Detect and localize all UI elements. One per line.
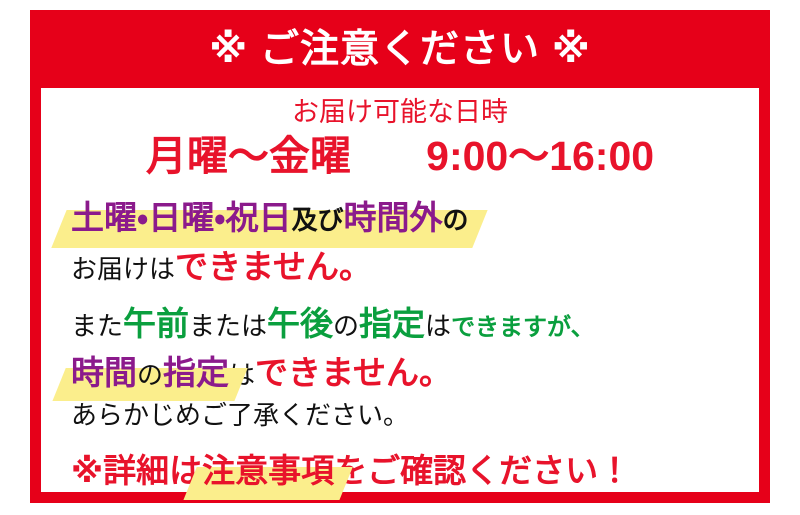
notice-header-title: ※ ご注意ください ※ bbox=[209, 30, 591, 69]
unavailable-particle-no: の bbox=[442, 205, 468, 235]
designation-block: また午前または午後の指定はできますが、 時間の指定はできません。 あらかじめご了… bbox=[71, 303, 741, 433]
designation-line-1: また午前または午後の指定はできますが、 bbox=[71, 303, 741, 346]
morning-text: 午前 bbox=[123, 305, 189, 342]
availability-time-range: 9:00〜16:00 bbox=[426, 133, 654, 179]
availability-label: お届け可能な日時 bbox=[59, 96, 741, 130]
acknowledge-text: あらかじめご了承ください。 bbox=[71, 400, 409, 430]
footer-note-line: ※詳細は注意事項をご確認ください！ bbox=[71, 450, 741, 493]
unavailable-block: 土曜・日曜・祝日及び時間外の お届けはできません。 bbox=[71, 197, 741, 289]
availability-end-time: 16:00 bbox=[549, 133, 654, 179]
availability-spacer bbox=[362, 133, 414, 179]
also-text: また bbox=[71, 311, 123, 341]
notice-body: お届け可能な日時 月曜〜金曜 9:00〜16:00 土曜・日曜・祝日及び時間外の… bbox=[41, 88, 759, 493]
unavailable-line-1: 土曜・日曜・祝日及び時間外の bbox=[71, 197, 741, 240]
unavailable-days-text: 土曜・日曜・祝日 bbox=[71, 199, 291, 236]
delivery-subject-text: お届けは bbox=[71, 254, 175, 284]
time-designation-text: 指定 bbox=[163, 354, 229, 391]
afternoon-text: 午後 bbox=[267, 305, 333, 342]
designation-line-2: 時間の指定はできません。 bbox=[71, 352, 741, 395]
or-text: または bbox=[189, 311, 267, 341]
designation-text: 指定 bbox=[359, 305, 425, 342]
highlight-marker-days: 土曜・日曜・祝日及び時間外の bbox=[71, 197, 468, 240]
designation-line-3: あらかじめご了承ください。 bbox=[71, 399, 741, 433]
notice-header-banner: ※ ご注意ください ※ bbox=[30, 10, 770, 88]
designation-particle-wa: は bbox=[425, 311, 451, 341]
time-word-text: 時間 bbox=[71, 354, 137, 391]
cannot-deliver-text: できません。 bbox=[175, 248, 372, 285]
highlight-marker-terms: 注意事項 bbox=[202, 450, 334, 493]
notice-card: ※ ご注意ください ※ お届け可能な日時 月曜〜金曜 9:00〜16:00 土曜… bbox=[30, 10, 770, 503]
unavailable-offhours-text: 時間外 bbox=[343, 199, 442, 236]
unavailable-line-2: お届けはできません。 bbox=[71, 246, 741, 289]
footer-note-block: ※詳細は注意事項をご確認ください！ bbox=[71, 450, 741, 493]
availability-start-time: 9:00 bbox=[426, 133, 508, 179]
time-particle-no: の bbox=[137, 360, 163, 390]
time-cannot-text: できません。 bbox=[255, 354, 452, 391]
can-do-text: できますが、 bbox=[451, 314, 595, 341]
availability-hours-row: 月曜〜金曜 9:00〜16:00 bbox=[59, 132, 741, 181]
footer-prefix-text: ※詳細は bbox=[71, 452, 202, 489]
designation-particle-no: の bbox=[333, 311, 359, 341]
terms-link-text[interactable]: 注意事項 bbox=[202, 452, 334, 489]
footer-suffix-text: をご確認ください！ bbox=[334, 452, 631, 489]
highlight-marker-time: 時間の指定 bbox=[71, 352, 229, 395]
unavailable-conjunction-text: 及び bbox=[291, 205, 343, 235]
availability-days: 月曜〜金曜 bbox=[146, 133, 351, 179]
